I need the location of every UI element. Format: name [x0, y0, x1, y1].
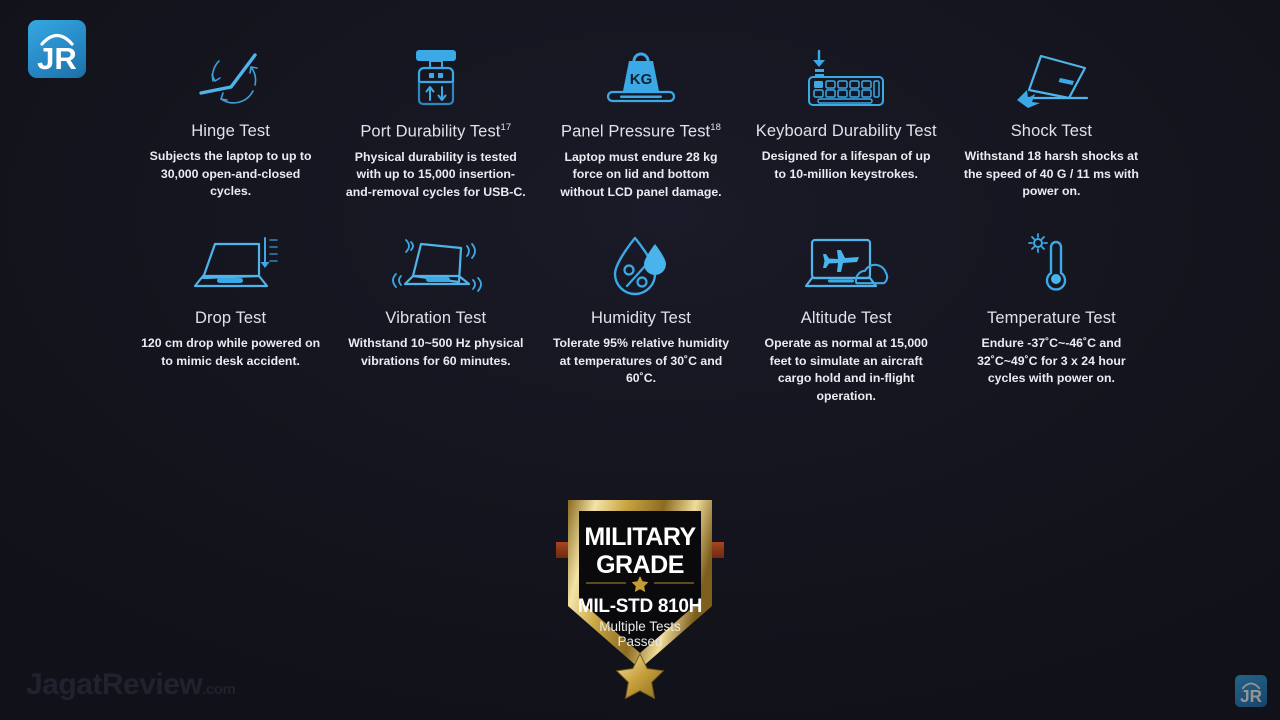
jagatreview-watermark: JagatReview.com	[26, 668, 235, 702]
test-card-shock: Shock Test Withstand 18 harsh shocks at …	[949, 40, 1154, 201]
test-card-keyboard-durability: Keyboard Durability Test Designed for a …	[744, 40, 949, 201]
badge-line-1: MILITARY	[584, 523, 696, 551]
usb-port-plug-icon	[408, 40, 464, 116]
keyboard-keypress-icon	[801, 40, 891, 116]
test-card-port-durability: Port Durability Test17 Physical durabili…	[333, 40, 538, 201]
hinge-rotation-icon	[193, 40, 269, 116]
test-title: Panel Pressure Test18	[561, 122, 721, 142]
test-description: Designed for a lifespan of up to 10-mill…	[755, 148, 937, 183]
test-grid: Hinge Test Subjects the laptop to up to …	[128, 40, 1154, 405]
svg-text:JR: JR	[1240, 687, 1262, 706]
jr-logo-icon: JR	[1235, 675, 1267, 707]
laptop-vibration-icon	[387, 227, 485, 303]
svg-text:JR: JR	[37, 41, 77, 76]
test-title: Humidity Test	[591, 309, 691, 328]
test-title: Vibration Test	[385, 309, 486, 328]
test-description: Physical durability is tested with up to…	[345, 149, 527, 202]
badge-standard: MIL-STD 810H	[578, 596, 702, 617]
test-description: Subjects the laptop to up to 30,000 open…	[140, 148, 322, 201]
laptop-drop-arrow-icon	[181, 227, 281, 303]
test-card-humidity: Humidity Test Tolerate 95% relative humi…	[538, 227, 743, 405]
test-title: Shock Test	[1011, 122, 1092, 141]
badge-line-2: GRADE	[596, 551, 684, 579]
test-description: Laptop must endure 28 kg force on lid an…	[550, 149, 732, 202]
test-card-panel-pressure: KG Panel Pressure Test18 Laptop must end…	[538, 40, 743, 201]
water-droplet-percent-icon	[609, 227, 673, 303]
kg-weight-on-laptop-icon: KG	[600, 40, 682, 116]
test-title: Drop Test	[195, 309, 266, 328]
test-card-temperature: Temperature Test Endure -37˚C~-46˚C and …	[949, 227, 1154, 405]
test-card-drop: Drop Test 120 cm drop while powered on t…	[128, 227, 333, 405]
test-title: Port Durability Test17	[360, 122, 511, 142]
thermometer-sun-icon	[1017, 227, 1085, 303]
test-title: Altitude Test	[801, 309, 892, 328]
military-grade-badge: MILITARY GRADE MIL-STD 810H Multiple Tes…	[556, 494, 724, 699]
laptop-impact-shock-icon	[1005, 40, 1097, 116]
laptop-airplane-cloud-icon	[796, 227, 896, 303]
test-description: Withstand 18 harsh shocks at the speed o…	[960, 148, 1142, 201]
test-description: 120 cm drop while powered on to mimic de…	[140, 335, 322, 370]
slide-root: JR Hinge Test Subjects the laptop to up …	[0, 0, 1280, 720]
test-description: Withstand 10~500 Hz physical vibrations …	[345, 335, 527, 370]
test-card-hinge: Hinge Test Subjects the laptop to up to …	[128, 40, 333, 201]
test-description: Tolerate 95% relative humidity at temper…	[550, 335, 732, 388]
test-title: Keyboard Durability Test	[756, 122, 937, 141]
test-title: Temperature Test	[987, 309, 1116, 328]
test-description: Operate as normal at 15,000 feet to simu…	[755, 335, 937, 405]
test-card-vibration: Vibration Test Withstand 10~500 Hz physi…	[333, 227, 538, 405]
jagatreview-corner-logo: JR	[1235, 675, 1267, 707]
jagatreview-logo: JR	[28, 20, 86, 78]
svg-text:KG: KG	[630, 71, 653, 88]
test-card-altitude: Altitude Test Operate as normal at 15,00…	[744, 227, 949, 405]
badge-sub-2: Passed	[617, 634, 662, 649]
jr-logo-icon: JR	[28, 20, 86, 78]
footnote-marker: 18	[710, 122, 721, 133]
test-description: Endure -37˚C~-46˚C and 32˚C~49˚C for 3 x…	[960, 335, 1142, 388]
test-title: Hinge Test	[191, 122, 270, 141]
footnote-marker: 17	[500, 122, 511, 133]
badge-sub-1: Multiple Tests	[599, 619, 681, 634]
